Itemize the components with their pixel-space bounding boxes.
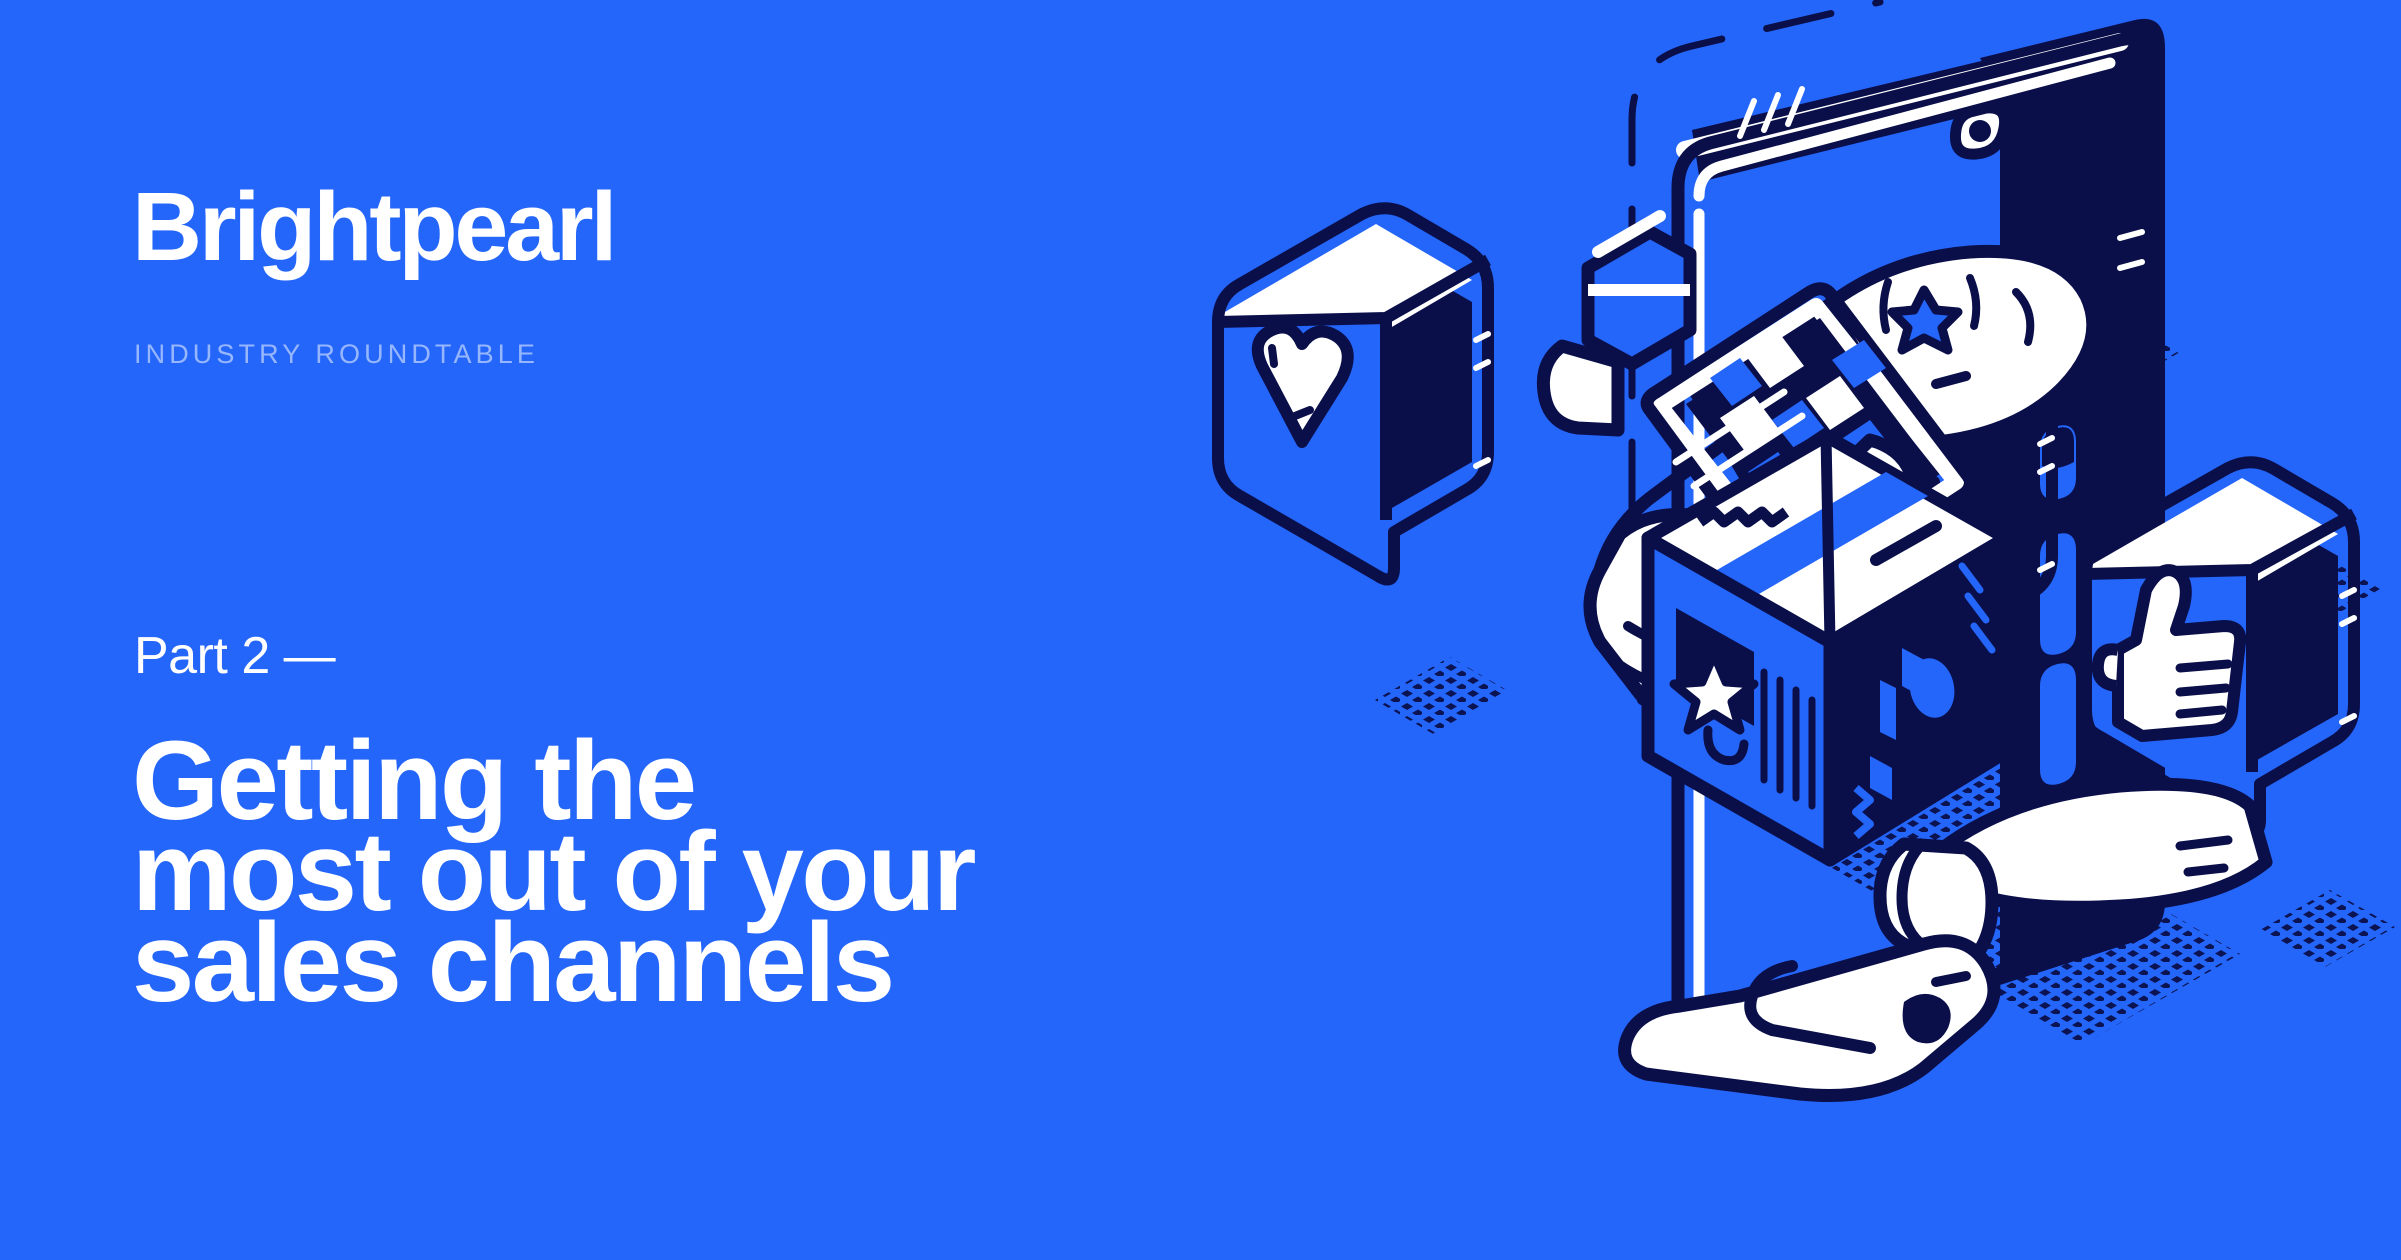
text-column: Brightpearl INDUSTRY ROUNDTABLE Part 2 —… [132,0,1252,1260]
brightpearl-logo: Brightpearl [132,178,614,275]
heart-speech-bubble [1212,208,1488,579]
hero-illustration [1180,0,2401,1260]
industry-roundtable-kicker: INDUSTRY ROUNDTABLE [134,341,539,368]
poster-canvas: Brightpearl INDUSTRY ROUNDTABLE Part 2 —… [0,0,2401,1260]
headline-line-3: sales channels [132,917,1252,1008]
part-label: Part 2 — [134,630,335,682]
headline: Getting the most out of your sales chann… [132,735,1252,1008]
